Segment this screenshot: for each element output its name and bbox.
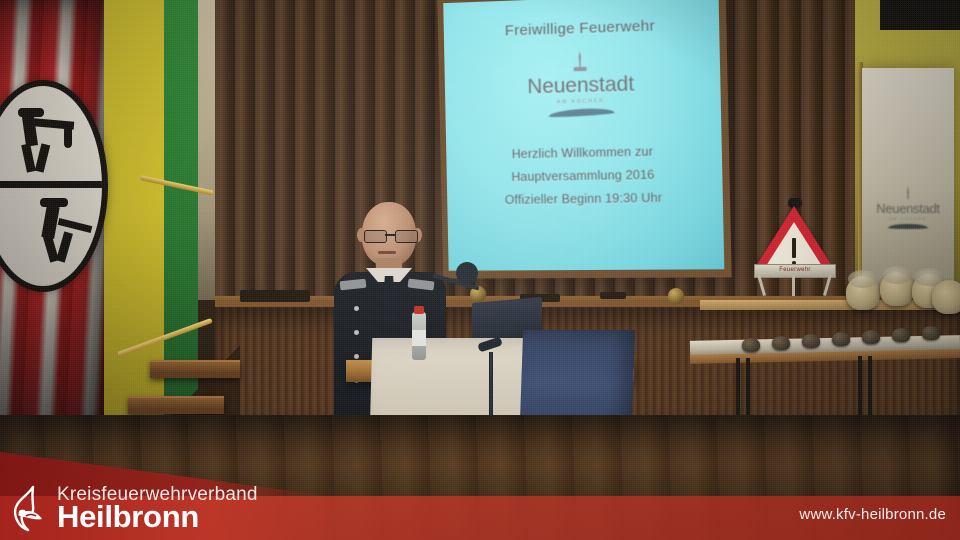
- slide-line-meeting: Hauptversammlung 2016: [447, 167, 723, 186]
- photo-canvas: Freiwillige Feuerwehr Neuenstadt AM KOCH…: [0, 0, 960, 540]
- gooseneck-microphone-head: [456, 262, 478, 284]
- stage-lamp-right: [668, 288, 684, 304]
- gift-basket-wrap-3: [914, 268, 944, 286]
- presentation-slide: Freiwillige Feuerwehr Neuenstadt AM KOCH…: [443, 0, 724, 271]
- award-item-7: [922, 326, 940, 340]
- gift-basket-wrap-2: [882, 266, 912, 284]
- award-item-5: [862, 330, 880, 344]
- stage-prop-box: [600, 292, 626, 299]
- exclamation-icon: [792, 238, 796, 258]
- slide-body: Herzlich Willkommen zur Hauptversammlung…: [446, 143, 723, 208]
- slide-line-welcome: Herzlich Willkommen zur: [446, 143, 722, 162]
- projection-screen-frame: Freiwillige Feuerwehr Neuenstadt AM KOCH…: [437, 0, 731, 279]
- speaker-mouth: [378, 251, 396, 254]
- slide-line-start-time: Offizieller Beginn 19:30 Uhr: [447, 190, 723, 208]
- water-bottle-cap: [414, 306, 424, 314]
- banner-shading: [862, 68, 954, 290]
- uniform-buttons: [354, 306, 360, 406]
- slide-heading: Freiwillige Feuerwehr: [444, 15, 720, 41]
- fire-brigade-flag: [0, 0, 104, 470]
- gift-basket-4: [932, 280, 960, 314]
- warning-triangle-sign: Feuerwehr: [752, 206, 836, 282]
- sign-legs: [758, 274, 830, 296]
- speaker-glasses-icon: [364, 230, 416, 241]
- flame-logo-icon: [7, 485, 49, 533]
- river-wave-icon: [548, 107, 614, 118]
- wall-right-shadow: [880, 0, 960, 30]
- spire-base-icon: [574, 67, 587, 71]
- spire-icon: [577, 51, 582, 67]
- flag-shading: [0, 0, 104, 470]
- projection-screen: Freiwillige Feuerwehr Neuenstadt AM KOCH…: [443, 0, 724, 271]
- brand-lockup: Kreisfeuerwehrverband Heilbronn: [7, 480, 337, 538]
- award-item-1: [742, 338, 760, 352]
- award-item-2: [772, 336, 790, 350]
- brand-text: Kreisfeuerwehrverband Heilbronn: [57, 485, 258, 534]
- award-item-4: [832, 332, 850, 346]
- gift-basket-wrap-1: [848, 270, 878, 288]
- water-bottle-label: [412, 330, 426, 346]
- website-url: www.kfv-heilbronn.de: [799, 506, 946, 523]
- town-banner: Neuenstadt AM KOCHER: [862, 68, 954, 290]
- stage-prop-left: [240, 290, 310, 302]
- brand-line-2: Heilbronn: [57, 501, 258, 532]
- slide-town-logo: Neuenstadt AM KOCHER: [444, 47, 721, 119]
- award-item-3: [802, 334, 820, 348]
- award-item-6: [892, 328, 910, 342]
